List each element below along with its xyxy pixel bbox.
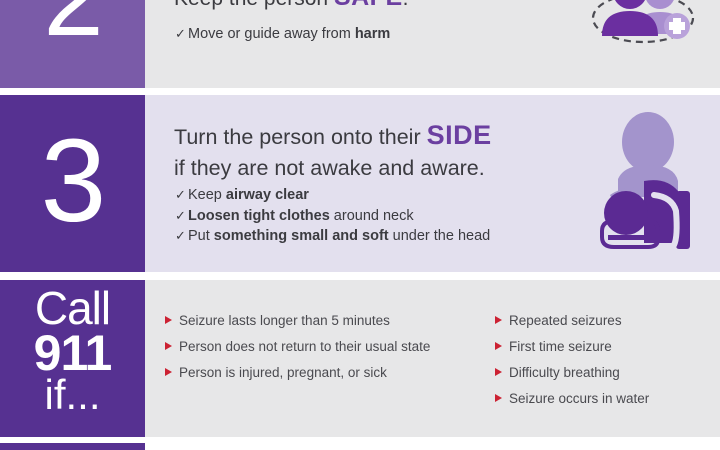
condition-text: Seizure occurs in water [509,391,649,406]
step-3-heading-prefix: Turn the person onto their [174,125,427,149]
check-text-plain-before: Keep [188,187,226,203]
step-2-heading-prefix: Keep the person [174,0,334,10]
checkmark-icon: ✓ [175,187,188,203]
triangle-bullet-icon [165,316,172,324]
step-2-row: 2 Keep the person SAFE. ✓Move or guide a… [0,0,720,88]
check-text-plain-after: around neck [330,208,414,224]
triangle-bullet-icon [165,368,172,376]
call-911-row: Call 911 if... Seizure lasts longer than… [0,280,720,437]
conditions-column-left: Seizure lasts longer than 5 minutes Pers… [165,313,430,391]
check-text-plain-after: under the head [389,228,491,244]
step-3-check-item-1: ✓Keep airway clear [175,187,490,203]
call-911-block: Call 911 if... [0,280,145,437]
check-text-bold: something small and soft [214,228,389,244]
checkmark-icon: ✓ [175,26,188,42]
condition-item: Person is injured, pregnant, or sick [165,365,430,380]
checkmark-icon: ✓ [175,208,188,224]
triangle-bullet-icon [495,342,502,350]
triangle-bullet-icon [495,368,502,376]
condition-item: Difficulty breathing [495,365,649,380]
condition-text: Seizure lasts longer than 5 minutes [179,313,390,328]
condition-item: Seizure occurs in water [495,391,649,406]
step-3-content: Turn the person onto their SIDE if they … [145,95,720,272]
condition-text: Repeated seizures [509,313,622,328]
call-if-word: if... [0,374,145,416]
step-3-check-item-2: ✓Loosen tight clothes around neck [175,208,490,224]
condition-item: Seizure lasts longer than 5 minutes [165,313,430,328]
call-911-label: Call 911 if... [0,285,145,416]
condition-text: Person does not return to their usual st… [179,339,430,354]
call-911-conditions: Seizure lasts longer than 5 minutes Pers… [145,280,720,437]
triangle-bullet-icon [165,342,172,350]
condition-item: Person does not return to their usual st… [165,339,430,354]
check-text-plain: Move or guide away from [188,26,355,42]
condition-text: Person is injured, pregnant, or sick [179,365,387,380]
step-3-row: 3 Turn the person onto their SIDE if the… [0,95,720,272]
step-2-heading-highlight: SAFE [334,0,403,11]
step-2-heading-suffix: . [403,0,409,10]
step-2-number: 2 [43,0,101,44]
step-3-heading-line2: if they are not awake and aware. [174,156,485,180]
two-people-plus-icon [588,0,698,48]
step-3-check-list: ✓Keep airway clear ✓Loosen tight clothes… [175,187,490,249]
condition-text: Difficulty breathing [509,365,620,380]
triangle-bullet-icon [495,316,502,324]
step-3-check-item-3: ✓Put something small and soft under the … [175,228,490,244]
condition-text: First time seizure [509,339,612,354]
conditions-columns: Seizure lasts longer than 5 minutes Pers… [145,280,720,437]
step-2-check-item: ✓Move or guide away from harm [175,26,390,42]
step-3-heading: Turn the person onto their SIDE if they … [174,118,594,183]
triangle-bullet-icon [495,394,502,402]
check-text-plain-before: Put [188,228,214,244]
step-3-heading-highlight: SIDE [427,120,492,150]
next-section-content [145,443,720,450]
step-2-content: Keep the person SAFE. ✓Move or guide awa… [145,0,720,88]
recovery-position-person-icon [596,109,700,259]
condition-item: Repeated seizures [495,313,649,328]
step-2-number-block: 2 [0,0,145,88]
seizure-first-aid-infographic: 2 Keep the person SAFE. ✓Move or guide a… [0,0,720,450]
next-section-number-block [0,443,145,450]
check-text-bold: Loosen tight clothes [188,208,330,224]
check-text-bold: harm [355,26,390,42]
step-2-heading: Keep the person SAFE. [174,0,574,12]
step-3-number: 3 [41,131,105,231]
step-3-number-block: 3 [0,95,145,272]
checkmark-icon: ✓ [175,228,188,244]
condition-item: First time seizure [495,339,649,354]
next-section-row-clipped [0,443,720,450]
check-text-bold: airway clear [226,187,309,203]
conditions-column-right: Repeated seizures First time seizure Dif… [495,313,649,417]
